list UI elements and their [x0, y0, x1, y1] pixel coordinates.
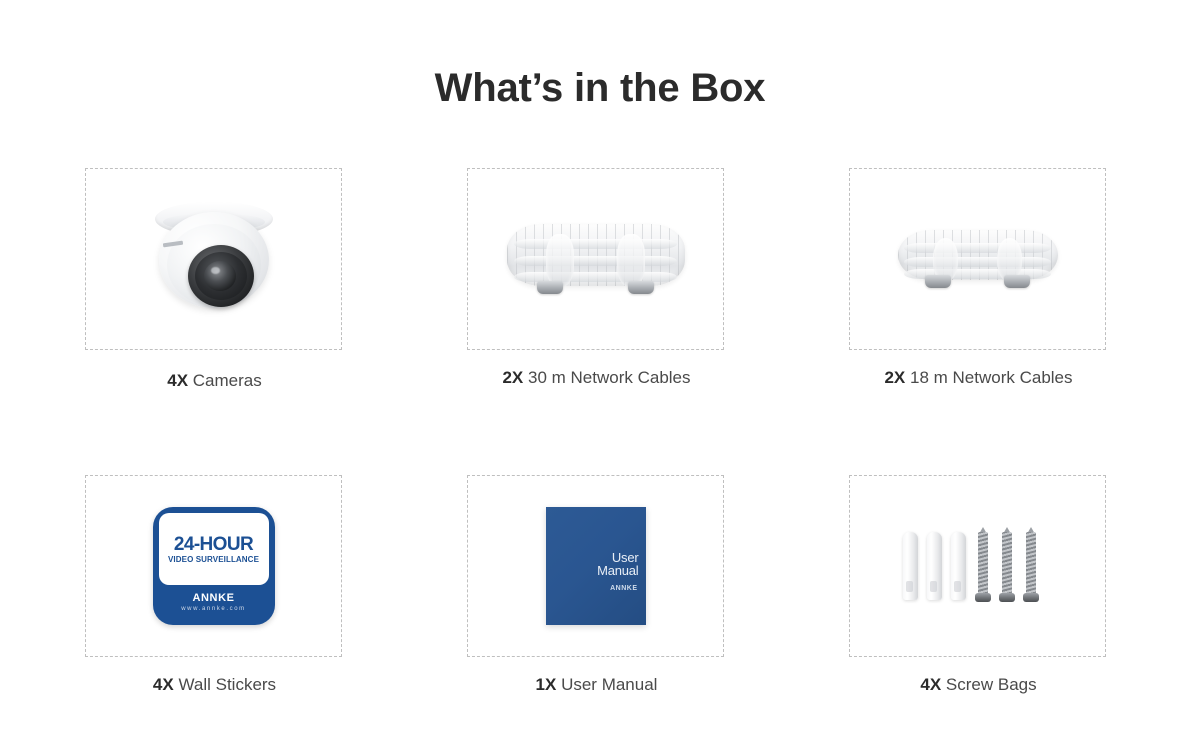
dome-camera-icon [86, 169, 341, 349]
item-cell-cables-18m[interactable]: 2X 18 m Network Cables [849, 168, 1108, 391]
manual-title-line2: Manual [597, 564, 638, 577]
wall-anchor [951, 532, 966, 600]
rj45-connector-right [628, 281, 654, 294]
wall-anchor [903, 532, 918, 600]
cable-coil-icon [850, 169, 1105, 349]
item-image-wall-stickers: 24-HOUR VIDEO SURVEILLANCE ANNKE www.ann… [85, 475, 342, 657]
item-caption-user-manual: 1X User Manual [467, 675, 726, 695]
manual-brand: ANNKE [610, 585, 637, 592]
rj45-connector-left [925, 275, 951, 288]
screw [1024, 530, 1038, 602]
item-image-screw-bags [849, 475, 1106, 657]
item-label: 18 m Network Cables [910, 368, 1073, 387]
screw [976, 530, 990, 602]
item-quantity: 2X [502, 368, 523, 387]
sticker-subhead: VIDEO SURVEILLANCE [168, 556, 259, 564]
item-quantity: 4X [167, 371, 188, 390]
items-row-1: 4X Cameras [85, 168, 1108, 391]
item-cell-cameras[interactable]: 4X Cameras [85, 168, 344, 391]
sticker-headline: 24-HOUR [174, 535, 253, 554]
item-label: 30 m Network Cables [528, 368, 691, 387]
item-caption-cameras: 4X Cameras [85, 371, 344, 391]
item-cell-screw-bags[interactable]: 4X Screw Bags [849, 475, 1108, 695]
screws-and-anchors-icon [850, 476, 1105, 656]
item-image-cameras [85, 168, 342, 350]
item-cell-wall-stickers[interactable]: 24-HOUR VIDEO SURVEILLANCE ANNKE www.ann… [85, 475, 344, 695]
rj45-connector-left [537, 281, 563, 294]
item-cell-user-manual[interactable]: User Manual ANNKE 1X User Manual [467, 475, 726, 695]
cable-coil-icon [468, 169, 723, 349]
item-quantity: 4X [153, 675, 174, 694]
item-caption-wall-stickers: 4X Wall Stickers [85, 675, 344, 695]
rj45-connector-right [1004, 275, 1030, 288]
item-quantity: 4X [920, 675, 941, 694]
item-quantity: 2X [884, 368, 905, 387]
item-quantity: 1X [536, 675, 557, 694]
item-label: Wall Stickers [178, 675, 276, 694]
item-image-cables-30m [467, 168, 724, 350]
wall-anchor [927, 532, 942, 600]
sticker-brand: ANNKE [192, 593, 234, 604]
item-cell-cables-30m[interactable]: 2X 30 m Network Cables [467, 168, 726, 391]
item-label: Screw Bags [946, 675, 1037, 694]
page-title: What’s in the Box [0, 66, 1200, 110]
item-caption-screw-bags: 4X Screw Bags [849, 675, 1108, 695]
item-image-cables-18m [849, 168, 1106, 350]
screw [1000, 530, 1014, 602]
sticker-url: www.annke.com [181, 606, 246, 612]
item-caption-cables-30m: 2X 30 m Network Cables [467, 368, 726, 388]
item-caption-cables-18m: 2X 18 m Network Cables [849, 368, 1108, 388]
item-label: User Manual [561, 675, 657, 694]
wall-sticker-icon: 24-HOUR VIDEO SURVEILLANCE ANNKE www.ann… [86, 476, 341, 656]
item-image-user-manual: User Manual ANNKE [467, 475, 724, 657]
manual-booklet-icon: User Manual ANNKE [468, 476, 723, 656]
items-grid: 4X Cameras [85, 168, 1108, 695]
items-row-2: 24-HOUR VIDEO SURVEILLANCE ANNKE www.ann… [85, 475, 1108, 695]
item-label: Cameras [193, 371, 262, 390]
manual-title-line1: User [597, 551, 638, 564]
